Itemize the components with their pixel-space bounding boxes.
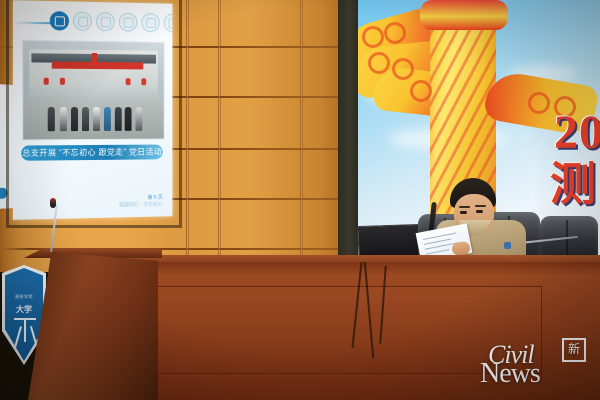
jacket-badge <box>504 242 511 249</box>
nav-icon-6 <box>164 13 173 32</box>
nav-icon-3 <box>96 12 115 31</box>
tripod-icon <box>24 320 26 342</box>
edge-slide-caption-pill <box>0 188 8 200</box>
huabiao-capital <box>420 0 508 30</box>
speaker-person <box>432 178 524 264</box>
slide-nav-row <box>50 11 173 32</box>
lectern-microphone-capsule <box>50 198 56 208</box>
slide-footer-note: 砥砺前行 · 不忘初心 <box>119 202 162 210</box>
emblem-name-text: 大学 <box>5 304 43 315</box>
watermark-line2: News <box>480 358 540 390</box>
nav-icon-4 <box>119 13 138 32</box>
watermark-logo: Civil News 新 <box>478 336 594 394</box>
emblem-small-text: 测绘学院 <box>5 294 43 300</box>
nav-icon-5 <box>141 13 159 32</box>
banner-subtitle-text: 测 <box>550 148 596 214</box>
slide-footer: 第 6 页 砥砺前行 · 不忘初心 <box>119 195 162 210</box>
slide-caption-banner: 总支开展 “不忘初心 跟党走” 党日活动 <box>21 144 163 160</box>
nav-icon-1 <box>50 11 69 30</box>
slide-group-photo <box>22 40 164 140</box>
watermark-badge-icon: 新 <box>562 338 586 362</box>
lectern <box>28 252 158 400</box>
main-projection-slide: 总支开展 “不忘初心 跟党走” 党日活动 第 6 页 砥砺前行 · 不忘初心 <box>13 0 172 220</box>
nav-icon-2 <box>73 12 92 31</box>
screenshot-scene: 20 测 <box>0 0 600 400</box>
